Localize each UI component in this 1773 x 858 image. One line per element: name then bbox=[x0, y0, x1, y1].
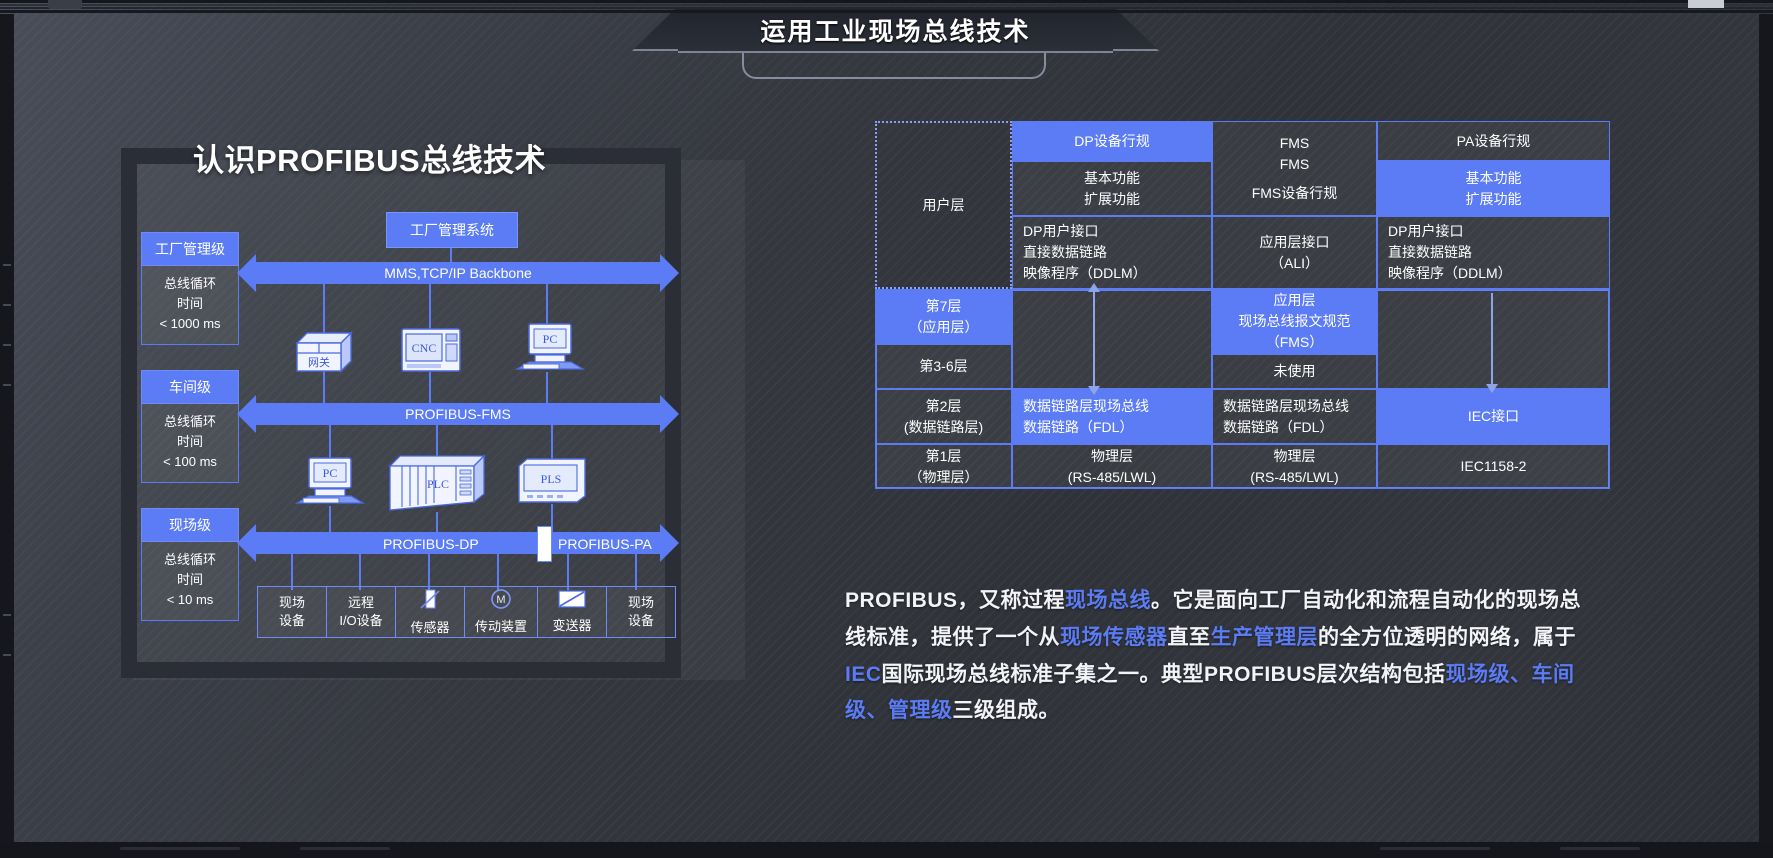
connector-fd5 bbox=[567, 554, 569, 590]
cell-layer-2: 第2层(数据链路层) bbox=[875, 389, 1012, 444]
field-device-remote-io: 远程 I/O设备 bbox=[326, 586, 396, 638]
level-card-field: 现场级 总线循环 时间 < 10 ms bbox=[141, 508, 239, 621]
bus-label-pa: PROFIBUS-PA bbox=[558, 536, 652, 552]
level-line1: 总线循环 bbox=[144, 550, 236, 570]
device-line2: I/O设备 bbox=[339, 612, 382, 630]
cell-fdl-dp: 数据链路层现场总线数据链路（FDL） bbox=[1012, 389, 1212, 444]
device-line1: 远程 bbox=[348, 594, 374, 612]
connector-fd1 bbox=[291, 554, 293, 590]
bus-label: MMS,TCP/IP Backbone bbox=[384, 265, 532, 281]
diagram-title: 认识PROFIBUS总线技术 bbox=[193, 135, 546, 180]
level-line2: 时间 bbox=[144, 432, 236, 452]
level-line3: < 10 ms bbox=[144, 590, 236, 610]
para-hl-fieldbus: 现场总线 bbox=[1065, 589, 1151, 612]
connector-fd6 bbox=[635, 554, 637, 590]
level-line3: < 100 ms bbox=[144, 452, 236, 472]
pc-icon: PC bbox=[293, 456, 365, 517]
svg-text:M: M bbox=[496, 594, 505, 606]
level-body: 总线循环 时间 < 1000 ms bbox=[141, 266, 239, 345]
level-line1: 总线循环 bbox=[144, 412, 236, 432]
cell-fms-unused: 未使用 bbox=[1212, 354, 1377, 389]
cell-dp-user-interface: DP用户接口 直接数据链路 映像程序（DDLM） bbox=[1012, 216, 1212, 289]
svg-text:PC: PC bbox=[543, 332, 558, 346]
cell-layer-7: 第7层（应用层） bbox=[875, 289, 1012, 344]
cell-phy-dp: 物理层(RS-485/LWL) bbox=[1012, 444, 1212, 489]
cell-layer-3-6: 第3-6层 bbox=[875, 344, 1012, 389]
cell-pa-user-interface: DP用户接口 直接数据链路 映像程序（DDLM） bbox=[1377, 216, 1610, 289]
cell-dp-profile: DP设备行规 bbox=[1012, 121, 1212, 161]
field-device-6: 现场 设备 bbox=[606, 586, 676, 638]
device-line2: 设备 bbox=[279, 612, 305, 630]
svg-text:网关: 网关 bbox=[308, 355, 330, 369]
pc-icon: PC bbox=[513, 322, 585, 383]
level-card-plant: 工厂管理级 总线循环 时间 < 1000 ms bbox=[141, 232, 239, 345]
bottom-bezel bbox=[0, 842, 1773, 858]
chrome-notch-right bbox=[1688, 0, 1724, 8]
page-title: 运用工业现场总线技术 bbox=[760, 12, 1030, 48]
connector-fd3 bbox=[428, 554, 430, 590]
plc-icon: PLC bbox=[386, 452, 488, 519]
level-line3: < 1000 ms bbox=[144, 314, 236, 334]
cell-fdl-fms: 数据链路层现场总线数据链路（FDL） bbox=[1212, 389, 1377, 444]
para-hl-sensor: 现场传感器 bbox=[1060, 626, 1168, 649]
svg-text:PLS: PLS bbox=[541, 472, 562, 486]
para-seg-1: PROFIBUS，又称过程 bbox=[845, 589, 1065, 612]
cell-fms-profile: FMSFMS FMS设备行规 bbox=[1212, 121, 1377, 216]
device-line2: 变送器 bbox=[552, 617, 591, 635]
pls-icon: PLS bbox=[515, 456, 589, 511]
chrome-notch-left bbox=[48, 0, 82, 9]
cell-dp-functions: 基本功能扩展功能 bbox=[1012, 161, 1212, 216]
device-line1: 现场 bbox=[628, 594, 654, 612]
slide-header-banner: 运用工业现场总线技术 bbox=[678, 8, 1113, 53]
transmitter-icon bbox=[557, 589, 587, 614]
bus-label-dp: PROFIBUS-DP bbox=[383, 536, 479, 552]
bus-mms-tcpip: MMS,TCP/IP Backbone bbox=[255, 262, 661, 284]
level-name: 工厂管理级 bbox=[141, 232, 239, 266]
para-seg-5: 国际现场总线标准子集之一。典型PROFIBUS层次结构包括 bbox=[882, 663, 1446, 686]
para-hl-iec: IEC bbox=[845, 663, 882, 686]
cell-user-layer: 用户层 bbox=[875, 121, 1012, 289]
device-line1: 现场 bbox=[279, 594, 305, 612]
cell-phy-fms: 物理层(RS-485/LWL) bbox=[1212, 444, 1377, 489]
window-chrome-bars bbox=[0, 0, 1773, 14]
plant-management-system-box: 工厂管理系统 bbox=[386, 212, 518, 248]
device-line2: 设备 bbox=[628, 612, 654, 630]
cnc-icon: CNC bbox=[400, 325, 462, 380]
profibus-layer-model-table: 用户层 DP设备行规 基本功能扩展功能 DP用户接口 直接数据链路 映像程序（D… bbox=[875, 121, 1610, 489]
device-line2: 传动装置 bbox=[475, 618, 527, 636]
cell-pa-upper-empty bbox=[1377, 289, 1610, 389]
para-hl-mgmt: 生产管理层 bbox=[1211, 626, 1319, 649]
level-line2: 时间 bbox=[144, 294, 236, 314]
svg-text:PC: PC bbox=[323, 466, 338, 480]
sensor-icon bbox=[417, 588, 443, 617]
header-slot-decoration bbox=[742, 51, 1046, 79]
field-device-transmitter: 变送器 bbox=[537, 586, 607, 638]
gateway-icon: 网关 bbox=[291, 325, 357, 382]
bus-label: PROFIBUS-FMS bbox=[405, 406, 511, 422]
level-card-workshop: 车间级 总线循环 时间 < 100 ms bbox=[141, 370, 239, 483]
description-paragraph: PROFIBUS，又称过程现场总线。它是面向工厂自动化和流程自动化的现场总线标准… bbox=[845, 583, 1585, 730]
level-line2: 时间 bbox=[144, 570, 236, 590]
left-bezel bbox=[0, 14, 14, 858]
level-line1: 总线循环 bbox=[144, 274, 236, 294]
para-seg-4: 的全方位透明的网络，属于 bbox=[1318, 626, 1576, 649]
bus-profibus-fms: PROFIBUS-FMS bbox=[255, 403, 661, 425]
right-bezel bbox=[1759, 14, 1773, 858]
para-seg-6: 三级组成。 bbox=[953, 699, 1061, 722]
cell-dp-unused-region bbox=[1012, 289, 1212, 389]
field-device-1: 现场 设备 bbox=[257, 586, 327, 638]
level-body: 总线循环 时间 < 10 ms bbox=[141, 542, 239, 621]
dp-up-arrow-icon bbox=[1093, 291, 1095, 387]
device-line2: 传感器 bbox=[410, 619, 449, 637]
connector-fd4 bbox=[497, 554, 499, 590]
connector-fd2 bbox=[359, 554, 361, 590]
cell-fms-application-layer: 应用层 现场总线报文规范 （FMS） bbox=[1212, 289, 1377, 354]
cell-fms-ali: 应用层接口（ALI） bbox=[1212, 216, 1377, 289]
para-seg-3: 直至 bbox=[1168, 626, 1211, 649]
cell-iec1158-2: IEC1158-2 bbox=[1377, 444, 1610, 489]
cell-pa-functions: 基本功能扩展功能 bbox=[1377, 161, 1610, 216]
field-device-actuator: M 传动装置 bbox=[464, 586, 538, 638]
pa-down-arrow-icon bbox=[1491, 293, 1493, 385]
motor-icon: M bbox=[488, 588, 514, 617]
level-name: 车间级 bbox=[141, 370, 239, 404]
profibus-hierarchy-diagram: 认识PROFIBUS总线技术 工厂管理级 总线循环 时间 < 1000 ms 车… bbox=[133, 160, 745, 680]
cell-pa-profile: PA设备行规 bbox=[1377, 121, 1610, 161]
cell-layer-1: 第1层（物理层） bbox=[875, 444, 1012, 489]
field-device-sensor: 传感器 bbox=[395, 586, 465, 638]
svg-text:PLC: PLC bbox=[427, 477, 449, 491]
level-name: 现场级 bbox=[141, 508, 239, 542]
slide-canvas: 运用工业现场总线技术 认识PROFIBUS总线技术 工厂管理级 总线循环 时间 … bbox=[0, 0, 1773, 858]
dp-pa-coupler-icon bbox=[537, 526, 552, 562]
cell-iec-interface: IEC接口 bbox=[1377, 389, 1610, 444]
svg-text:CNC: CNC bbox=[412, 341, 437, 355]
level-body: 总线循环 时间 < 100 ms bbox=[141, 404, 239, 483]
